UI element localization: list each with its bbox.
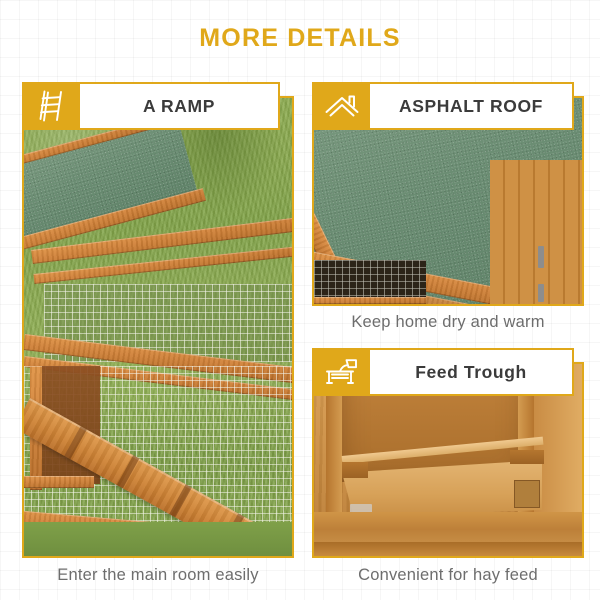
trough-label-text: Feed Trough: [370, 350, 572, 394]
trough-end-right: [510, 450, 544, 464]
hinge-icon-2: [538, 284, 544, 302]
hinge-icon: [538, 246, 544, 268]
ramp-support: [24, 476, 94, 488]
page-title: MORE DETAILS: [0, 24, 600, 53]
roof-label-text: ASPHALT ROOF: [370, 84, 572, 128]
trough-end-left: [342, 462, 368, 478]
ramp-caption: Enter the main room easily: [22, 566, 294, 585]
trough-label-bar[interactable]: Feed Trough: [312, 348, 574, 396]
ramp-label-bar[interactable]: A RAMP: [22, 82, 280, 130]
floor-front-lip: [314, 542, 582, 556]
roof-icon: [314, 84, 370, 128]
trough-caption: Convenient for hay feed: [312, 566, 584, 585]
ground-grass-strip: [24, 522, 292, 556]
bracket-right: [514, 480, 540, 508]
roof-caption: Keep home dry and warm: [312, 313, 584, 332]
ladder-icon: [24, 84, 80, 128]
hutch-side-body: [490, 160, 582, 306]
ramp-photo: [22, 96, 294, 558]
roof-label-bar[interactable]: ASPHALT ROOF: [312, 82, 574, 130]
feed-trough-icon: [314, 350, 370, 394]
ramp-label-text: A RAMP: [80, 84, 278, 128]
mesh-frame-bottom: [314, 297, 426, 304]
